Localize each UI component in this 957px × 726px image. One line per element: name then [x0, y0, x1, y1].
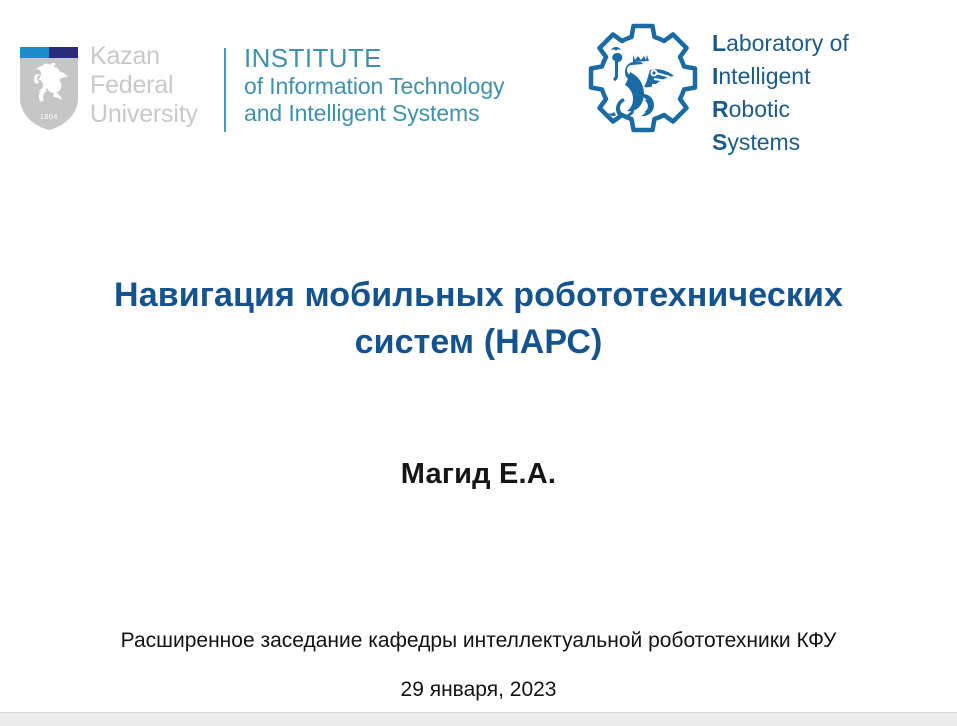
lirs-rest-systems: ystems [727, 129, 800, 155]
footer-event-text: Расширенное заседание кафедры интеллекту… [30, 630, 927, 651]
lirs-line-robotic: Robotic [712, 93, 849, 126]
kfu-shield-icon: 1804 [18, 44, 80, 132]
kfu-wordmark: Kazan Federal University [90, 42, 198, 129]
kfu-wordmark-line-1: Kazan [90, 42, 198, 71]
lirs-gear-dragon-icon [578, 20, 708, 150]
footer-date-text: 29 января, 2023 [30, 679, 927, 700]
lirs-cap-s: S [712, 129, 727, 155]
kfu-logo: 1804 Kazan Federal University [18, 44, 198, 132]
itis-line-institute: INSTITUTE [244, 44, 504, 73]
kfu-wordmark-line-2: Federal [90, 71, 198, 100]
lirs-line-laboratory: Laboratory of [712, 27, 849, 60]
author-block: Магид Е.А. [60, 458, 897, 491]
page-title: Навигация мобильных робототехнических си… [60, 272, 897, 366]
logo-divider [224, 48, 226, 132]
author-name: Магид Е.А. [60, 458, 897, 491]
itis-logo-text: INSTITUTE of Information Technology and … [244, 44, 504, 127]
lirs-rest-robotic: obotic [729, 96, 790, 122]
lirs-logo-text: Laboratory of Intelligent Robotic System… [712, 27, 849, 159]
title-block: Навигация мобильных робототехнических си… [60, 272, 897, 366]
lirs-line-systems: Systems [712, 126, 849, 159]
bottom-edge-strip [0, 712, 957, 726]
lirs-line-intelligent: Intelligent [712, 60, 849, 93]
kfu-wordmark-line-3: University [90, 100, 198, 129]
footer-block: Расширенное заседание кафедры интеллекту… [30, 630, 927, 700]
svg-text:1804: 1804 [40, 114, 58, 121]
itis-line-intelligent-systems: and Intelligent Systems [244, 100, 504, 127]
lirs-cap-r: R [712, 96, 729, 122]
lirs-cap-l: L [712, 30, 726, 56]
presentation-slide: 1804 Kazan Federal University INSTITUTE … [0, 0, 957, 726]
lirs-rest-laboratory: aboratory of [726, 30, 849, 56]
lirs-rest-intelligent: ntelligent [718, 63, 810, 89]
itis-line-information-technology: of Information Technology [244, 73, 504, 100]
slide-header-logo-bar: 1804 Kazan Federal University INSTITUTE … [0, 0, 957, 170]
